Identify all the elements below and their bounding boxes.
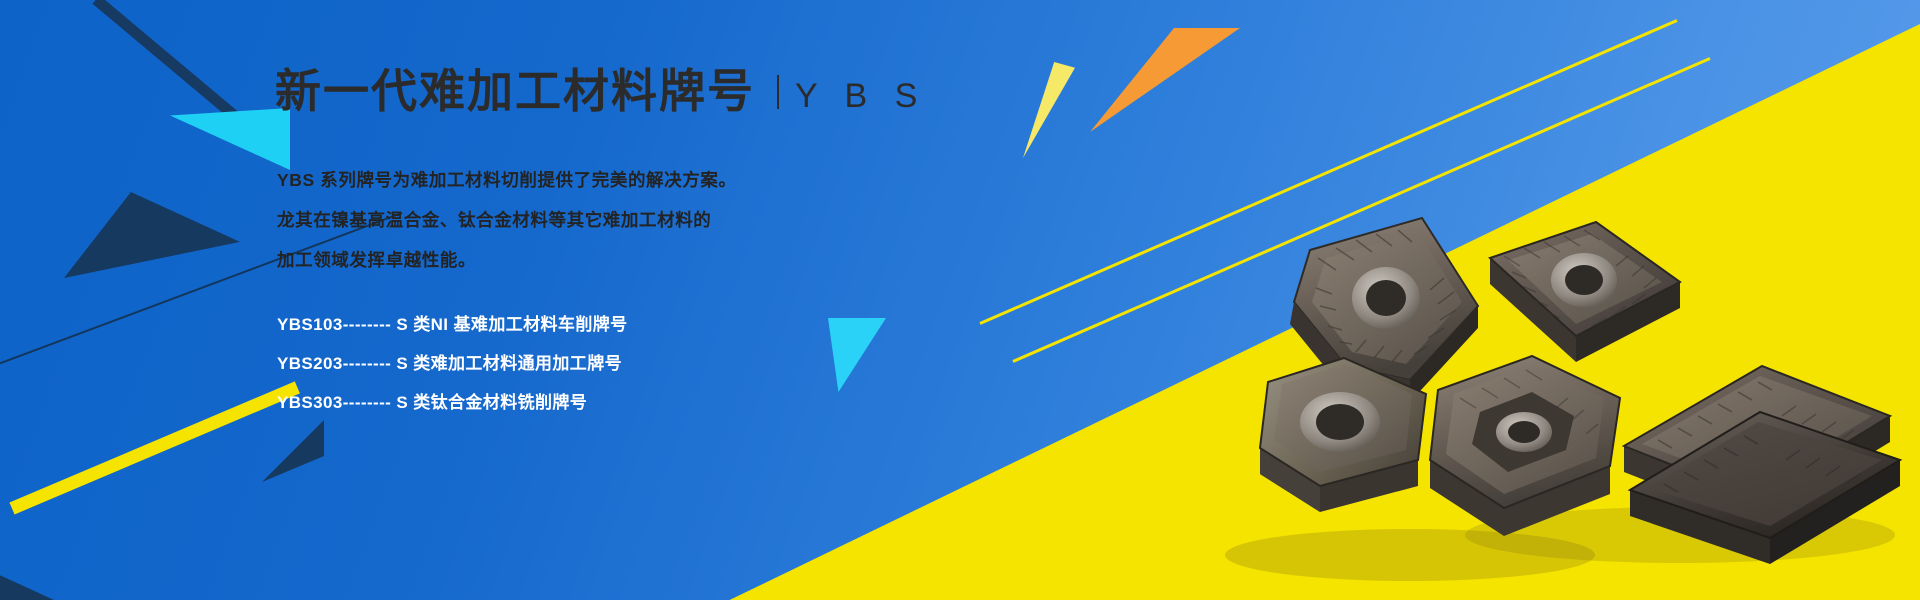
product-inserts-svg [1160, 130, 1920, 600]
model-list: YBS103-------- S 类NI 基难加工材料车削牌号 YBS203--… [277, 305, 628, 422]
navy-sliver-triangle-icon [0, 560, 54, 600]
banner-text-column: 新一代难加工材料牌号 Y B S YBS 系列牌号为难加工材料切削提供了完美的解… [275, 0, 975, 600]
headline-main-text: 新一代难加工材料牌号 [275, 68, 755, 114]
square-milling-insert [1430, 356, 1620, 536]
orange-triangle-icon [1090, 28, 1240, 132]
promo-banner: 新一代难加工材料牌号 Y B S YBS 系列牌号为难加工材料切削提供了完美的解… [0, 0, 1920, 600]
paragraph-line-1: YBS 系列牌号为难加工材料切削提供了完美的解决方案。 [277, 160, 737, 200]
headline-sub-text: Y B S [795, 79, 926, 113]
cnmg-rhombic-insert [1490, 222, 1680, 362]
navy-large-triangle-icon [64, 192, 240, 278]
model-list-item-ybs103: YBS103-------- S 类NI 基难加工材料车削牌号 [277, 305, 628, 344]
paragraph-line-2: 龙其在镍基高温合金、钛合金材料等其它难加工材料的 [277, 200, 737, 240]
model-list-item-ybs303: YBS303-------- S 类钛合金材料铣削牌号 [277, 383, 628, 422]
banner-paragraph: YBS 系列牌号为难加工材料切削提供了完美的解决方案。 龙其在镍基高温合金、钛合… [277, 160, 737, 280]
paragraph-line-3: 加工领域发挥卓越性能。 [277, 240, 737, 280]
page-title: 新一代难加工材料牌号 Y B S [275, 68, 926, 114]
headline-separator-icon [777, 75, 779, 109]
cyan-triangle-icon [170, 108, 290, 170]
pale-yellow-triangle-icon [1023, 62, 1075, 158]
yellow-thick-line-icon [9, 381, 299, 514]
model-list-item-ybs203: YBS203-------- S 类难加工材料通用加工牌号 [277, 344, 628, 383]
product-insert-cluster [1160, 130, 1920, 600]
